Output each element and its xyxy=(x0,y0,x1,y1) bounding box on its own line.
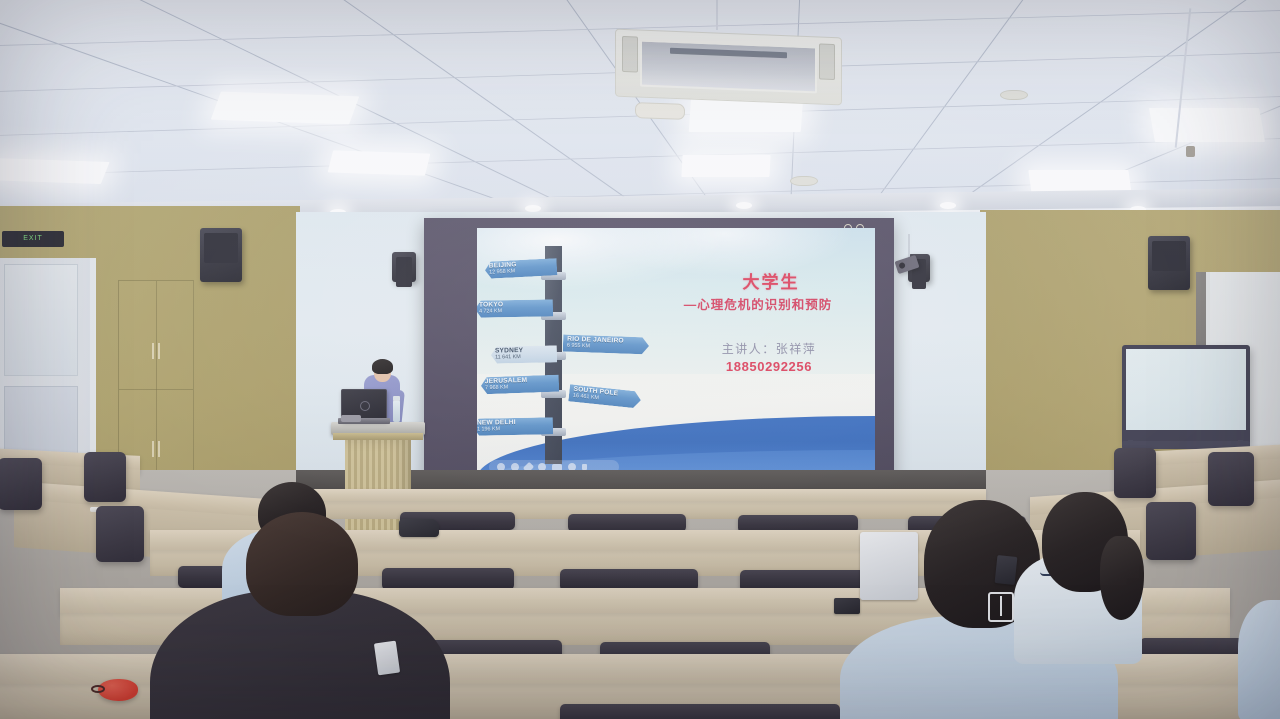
signpost-arrow-tokyo: TOKYO 4 724 KM xyxy=(477,299,553,317)
smoke-detector-icon xyxy=(790,176,818,186)
podium-trim xyxy=(333,433,423,440)
whiteboard-surface[interactable] xyxy=(1126,349,1246,430)
signpost-arrow-new-delhi: NEW DELHI 1 196 KM xyxy=(477,417,553,435)
hair-clip xyxy=(988,592,1014,622)
seat-cushion[interactable] xyxy=(560,704,840,719)
side-chair[interactable] xyxy=(1114,448,1156,498)
side-chair[interactable] xyxy=(1208,452,1254,506)
water-bottle-cap xyxy=(393,396,400,401)
led-panel-light xyxy=(0,158,110,184)
ceiling-hanger-rod xyxy=(716,0,718,30)
exit-sign-label: EXIT xyxy=(2,231,64,247)
cabinet-shelf-line xyxy=(119,389,193,390)
ac-side-vent xyxy=(819,43,835,80)
signpost-arrow-sydney: SYDNEY 11 641 KM xyxy=(491,345,557,363)
led-panel-light xyxy=(1149,108,1265,142)
smartphone[interactable] xyxy=(374,641,400,676)
cabinet-handle[interactable] xyxy=(152,343,154,359)
signpost-distance: 11 641 KM xyxy=(495,354,554,361)
signpost-distance: 1 196 KM xyxy=(477,426,550,433)
ac-louver xyxy=(670,48,787,58)
cabinet-divider xyxy=(156,281,157,477)
whiteboard[interactable] xyxy=(1122,345,1250,445)
signpost-arrow-rio: RIO DE JANEIRO 6 955 KM xyxy=(563,335,650,355)
ceiling-air-conditioner xyxy=(615,29,842,106)
led-panel-light xyxy=(328,150,431,175)
lecture-hall-photo: EXIT BEIJING 12 958 xyxy=(0,0,1280,719)
speaker-grille xyxy=(1152,241,1186,271)
signpost-distance: 7 968 KM xyxy=(485,384,556,392)
cabinet-handle[interactable] xyxy=(152,441,154,457)
led-panel-light xyxy=(211,92,359,125)
presenter-hair xyxy=(372,359,393,374)
seat-cushion[interactable] xyxy=(382,568,514,590)
signpost-arrow-jerusalem: JERUSALEM 7 968 KM xyxy=(481,375,560,395)
wall-speaker-left xyxy=(200,228,242,282)
cabinet-handle[interactable] xyxy=(158,441,160,457)
ac-vent-grille xyxy=(640,40,817,94)
red-pouch-on-desk xyxy=(98,679,138,701)
signpost-arrow-south-pole: SOUTH POLE 16 461 KM xyxy=(568,384,641,408)
wall-cabinet[interactable] xyxy=(118,280,194,478)
side-chair[interactable] xyxy=(1146,502,1196,560)
speaker-grille xyxy=(396,257,412,287)
projection-screen[interactable]: BEIJING 12 958 KM TOKYO 4 724 KM SYDNEY … xyxy=(424,218,894,488)
sprinkler-head-icon xyxy=(1186,146,1195,157)
tablet-or-phone[interactable] xyxy=(860,532,918,600)
speaker-grille xyxy=(204,233,238,263)
door-glass-panel xyxy=(4,264,78,376)
podium-control-panel[interactable] xyxy=(341,415,361,422)
led-panel-light xyxy=(681,155,770,177)
slide-presenter-label: 主讲人：张祥萍 xyxy=(669,340,869,357)
smartphone[interactable] xyxy=(834,598,860,614)
ac-sensor-module xyxy=(635,102,685,120)
wall-speaker-right xyxy=(1148,236,1190,290)
wall-speaker-front-left xyxy=(392,252,416,282)
signpost-distance: 4 724 KM xyxy=(479,308,550,315)
cabinet-handle[interactable] xyxy=(158,343,160,359)
signpost-distance: 12 958 KM xyxy=(489,267,554,276)
smartphone[interactable] xyxy=(995,555,1018,585)
exit-sign: EXIT xyxy=(2,231,64,247)
door-left[interactable] xyxy=(0,258,96,476)
side-chair[interactable] xyxy=(84,452,126,502)
slide-title: 大学生 xyxy=(673,268,869,293)
recessed-spotlight xyxy=(736,202,752,209)
slide-subtitle: —心理危机的识别和预防 xyxy=(645,294,871,313)
laptop-brand-logo-icon xyxy=(360,401,370,411)
recessed-spotlight xyxy=(940,202,956,209)
side-chair[interactable] xyxy=(0,458,42,510)
side-chair[interactable] xyxy=(96,506,144,562)
projector-lens-icon xyxy=(898,262,906,270)
smoke-detector-icon xyxy=(1000,90,1028,100)
student-hoodie-head xyxy=(246,512,358,616)
bag-on-desk xyxy=(399,519,439,537)
water-bottle xyxy=(393,400,400,422)
ceiling xyxy=(0,0,1280,222)
slide-phone-number: 18850292256 xyxy=(669,359,869,374)
recessed-spotlight xyxy=(525,205,541,212)
presentation-slide[interactable]: BEIJING 12 958 KM TOKYO 4 724 KM SYDNEY … xyxy=(477,228,875,480)
ac-side-vent xyxy=(622,36,638,73)
student-edge-torso xyxy=(1238,600,1280,719)
